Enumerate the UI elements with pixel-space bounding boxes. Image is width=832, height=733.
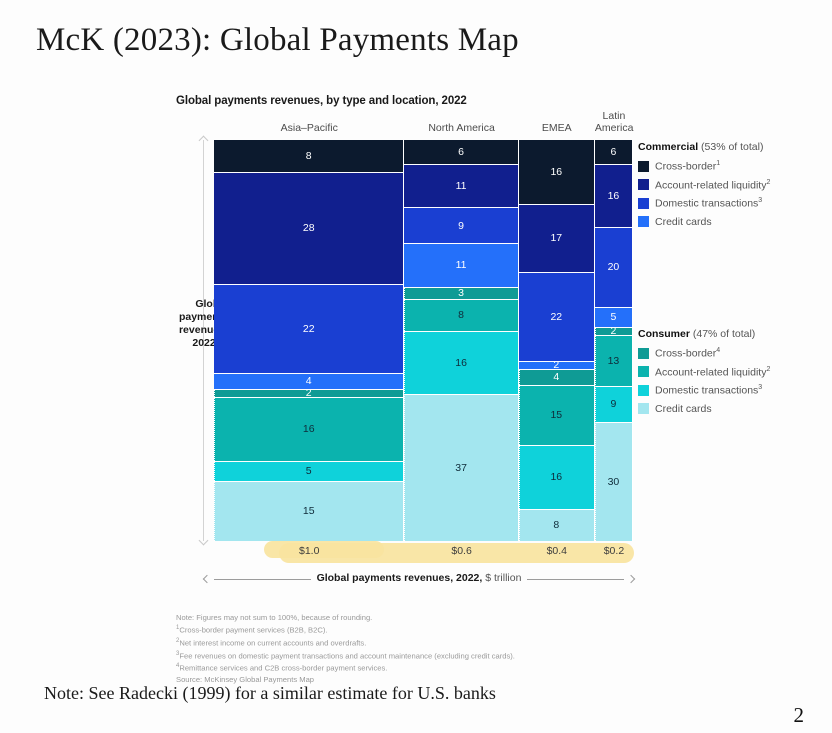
- legend-swatch-icon: [638, 403, 649, 414]
- footnote-line: Note: Figures may not sum to 100%, becau…: [176, 612, 515, 623]
- exhibit: Global payments revenues, by type and lo…: [0, 0, 832, 733]
- legend-swatch-icon: [638, 348, 649, 359]
- page-number: 2: [794, 703, 805, 728]
- segment-value-label: 4: [306, 376, 312, 387]
- chart-segment: 16: [519, 140, 595, 204]
- exhibit-title: Global payments revenues, by type and lo…: [176, 95, 467, 107]
- legend-commercial-heading: Commercial (53% of total): [638, 141, 770, 153]
- column-header-north-america: North America: [404, 122, 518, 134]
- legend-commercial-heading-bold: Commercial: [638, 141, 698, 153]
- chart-segment: 16: [404, 331, 518, 395]
- segment-value-label: 4: [553, 372, 559, 383]
- column-width-label: $0.6: [404, 545, 518, 557]
- segment-value-label: 16: [455, 358, 467, 369]
- legend-item-label: Credit cards: [655, 216, 712, 228]
- chart-segment: 5: [595, 307, 633, 327]
- segment-value-label: 22: [550, 312, 562, 323]
- x-axis-unit-text: $ trillion: [485, 572, 521, 584]
- chart-segment: 16: [214, 397, 404, 461]
- x-axis-label: Global payments revenues, 2022, $ trilli…: [204, 572, 634, 584]
- legend-commercial-heading-rest: (53% of total): [698, 141, 763, 153]
- segment-value-label: 9: [611, 399, 617, 410]
- segment-value-label: 8: [458, 310, 464, 321]
- legend-swatch-icon: [638, 216, 649, 227]
- slide-note: Note: See Radecki (1999) for a similar e…: [44, 683, 496, 704]
- legend-item[interactable]: Cross-border1: [638, 160, 770, 173]
- column-header-emea: EMEA: [519, 122, 595, 134]
- segment-value-label: 16: [550, 472, 562, 483]
- marimekko-chart: 8282242165156119113816371617222415168616…: [214, 140, 633, 541]
- chart-segment: 22: [214, 284, 404, 372]
- legend-item-label: Cross-border1: [655, 160, 720, 173]
- chart-segment: 2: [214, 389, 404, 397]
- segment-value-label: 2: [306, 389, 312, 397]
- segment-value-label: 8: [553, 520, 559, 531]
- chart-segment: 8: [519, 509, 595, 541]
- chart-segment: 22: [519, 272, 595, 360]
- segment-value-label: 2: [553, 361, 559, 369]
- footnotes: Note: Figures may not sum to 100%, becau…: [176, 612, 515, 685]
- segment-value-label: 8: [306, 151, 312, 162]
- chart-column: 828224216515: [214, 140, 404, 541]
- legend-swatch-icon: [638, 385, 649, 396]
- slide: McK (2023): Global Payments Map Global p…: [0, 0, 832, 733]
- segment-value-label: 2: [611, 327, 617, 335]
- legend-item[interactable]: Cross-border4: [638, 347, 770, 360]
- chart-segment: 3: [404, 287, 518, 299]
- segment-value-label: 5: [306, 466, 312, 477]
- chart-segment: 5: [214, 461, 404, 481]
- chart-segment: 16: [595, 164, 633, 228]
- legend-item-label: Account-related liquidity2: [655, 179, 770, 192]
- segment-value-label: 6: [458, 147, 464, 158]
- footnote-line: 3Fee revenues on domestic payment transa…: [176, 649, 515, 662]
- segment-value-label: 5: [611, 312, 617, 323]
- chart-segment: 15: [519, 385, 595, 445]
- chart-segment: 13: [595, 335, 633, 387]
- chart-segment: 28: [214, 172, 404, 284]
- legend-item-label: Cross-border4: [655, 347, 720, 360]
- chart-segment: 37: [404, 394, 518, 541]
- legend-item[interactable]: Credit cards: [638, 403, 770, 415]
- legend-item-label: Account-related liquidity2: [655, 366, 770, 379]
- legend-swatch-icon: [638, 179, 649, 190]
- footnote-line: 4Remittance services and C2B cross-borde…: [176, 661, 515, 674]
- chart-segment: 11: [404, 164, 518, 208]
- segment-value-label: 22: [303, 324, 315, 335]
- chart-column: 1617222415168: [519, 140, 595, 541]
- legend-item[interactable]: Account-related liquidity2: [638, 366, 770, 379]
- chart-segment: 2: [595, 327, 633, 335]
- column-width-label: $0.2: [595, 545, 633, 557]
- legend-swatch-icon: [638, 366, 649, 377]
- column-header-latin-america: LatinAmerica: [595, 110, 633, 134]
- segment-value-label: 11: [456, 181, 467, 192]
- y-axis-arrow-up-icon: [199, 136, 209, 146]
- segment-value-label: 9: [458, 221, 464, 232]
- chart-segment: 4: [214, 373, 404, 389]
- legend-consumer-heading: Consumer (47% of total): [638, 328, 770, 340]
- segment-value-label: 37: [455, 463, 467, 474]
- chart-segment: 8: [404, 299, 518, 331]
- chart-segment: 6: [404, 140, 518, 164]
- chart-segment: 16: [519, 445, 595, 509]
- legend-consumer: Consumer (47% of total) Cross-border4Acc…: [638, 328, 770, 421]
- segment-value-label: 3: [458, 288, 464, 299]
- legend-item-label: Domestic transactions3: [655, 384, 762, 397]
- chart-segment: 9: [595, 386, 633, 422]
- y-axis-arrow-down-icon: [199, 536, 209, 546]
- column-width-label: $0.4: [519, 545, 595, 557]
- legend-consumer-heading-rest: (47% of total): [690, 328, 755, 340]
- legend-swatch-icon: [638, 198, 649, 209]
- chart-segment: 20: [595, 227, 633, 306]
- segment-value-label: 6: [611, 147, 617, 158]
- chart-segment: 9: [404, 207, 518, 243]
- legend-item-label: Credit cards: [655, 403, 712, 415]
- segment-value-label: 15: [550, 410, 562, 421]
- segment-value-label: 30: [608, 477, 620, 488]
- segment-value-label: 20: [608, 262, 620, 273]
- segment-value-label: 17: [550, 233, 562, 244]
- chart-segment: 30: [595, 422, 633, 541]
- segment-value-label: 11: [456, 260, 467, 271]
- chart-column: 616205213930: [595, 140, 633, 541]
- footnote-line: 2Net interest income on current accounts…: [176, 636, 515, 649]
- chart-segment: 2: [519, 361, 595, 369]
- chart-segment: 8: [214, 140, 404, 172]
- column-header-asia-pacific: Asia–Pacific: [214, 122, 404, 134]
- segment-value-label: 16: [608, 191, 620, 202]
- segment-value-label: 13: [608, 356, 620, 367]
- legend-item-label: Domestic transactions3: [655, 197, 762, 210]
- segment-value-label: 15: [303, 506, 315, 517]
- legend-item[interactable]: Domestic transactions3: [638, 384, 770, 397]
- x-axis: Global payments revenues, 2022, $ trilli…: [204, 572, 634, 586]
- legend-consumer-heading-bold: Consumer: [638, 328, 690, 340]
- segment-value-label: 28: [303, 223, 315, 234]
- legend-item[interactable]: Account-related liquidity2: [638, 179, 770, 192]
- footnote-line: 1Cross-border payment services (B2B, B2C…: [176, 623, 515, 636]
- legend-item[interactable]: Domestic transactions3: [638, 197, 770, 210]
- chart-column: 611911381637: [404, 140, 518, 541]
- legend-item[interactable]: Credit cards: [638, 216, 770, 228]
- legend-swatch-icon: [638, 161, 649, 172]
- chart-segment: 15: [214, 481, 404, 541]
- chart-segment: 11: [404, 243, 518, 287]
- x-axis-label-text: Global payments revenues, 2022,: [317, 572, 483, 584]
- legend-commercial: Commercial (53% of total) Cross-border1A…: [638, 141, 770, 234]
- chart-segment: 4: [519, 369, 595, 385]
- chart-segment: 17: [519, 204, 595, 272]
- column-width-label: $1.0: [214, 545, 404, 557]
- segment-value-label: 16: [303, 424, 315, 435]
- chart-segment: 6: [595, 140, 633, 164]
- segment-value-label: 16: [550, 167, 562, 178]
